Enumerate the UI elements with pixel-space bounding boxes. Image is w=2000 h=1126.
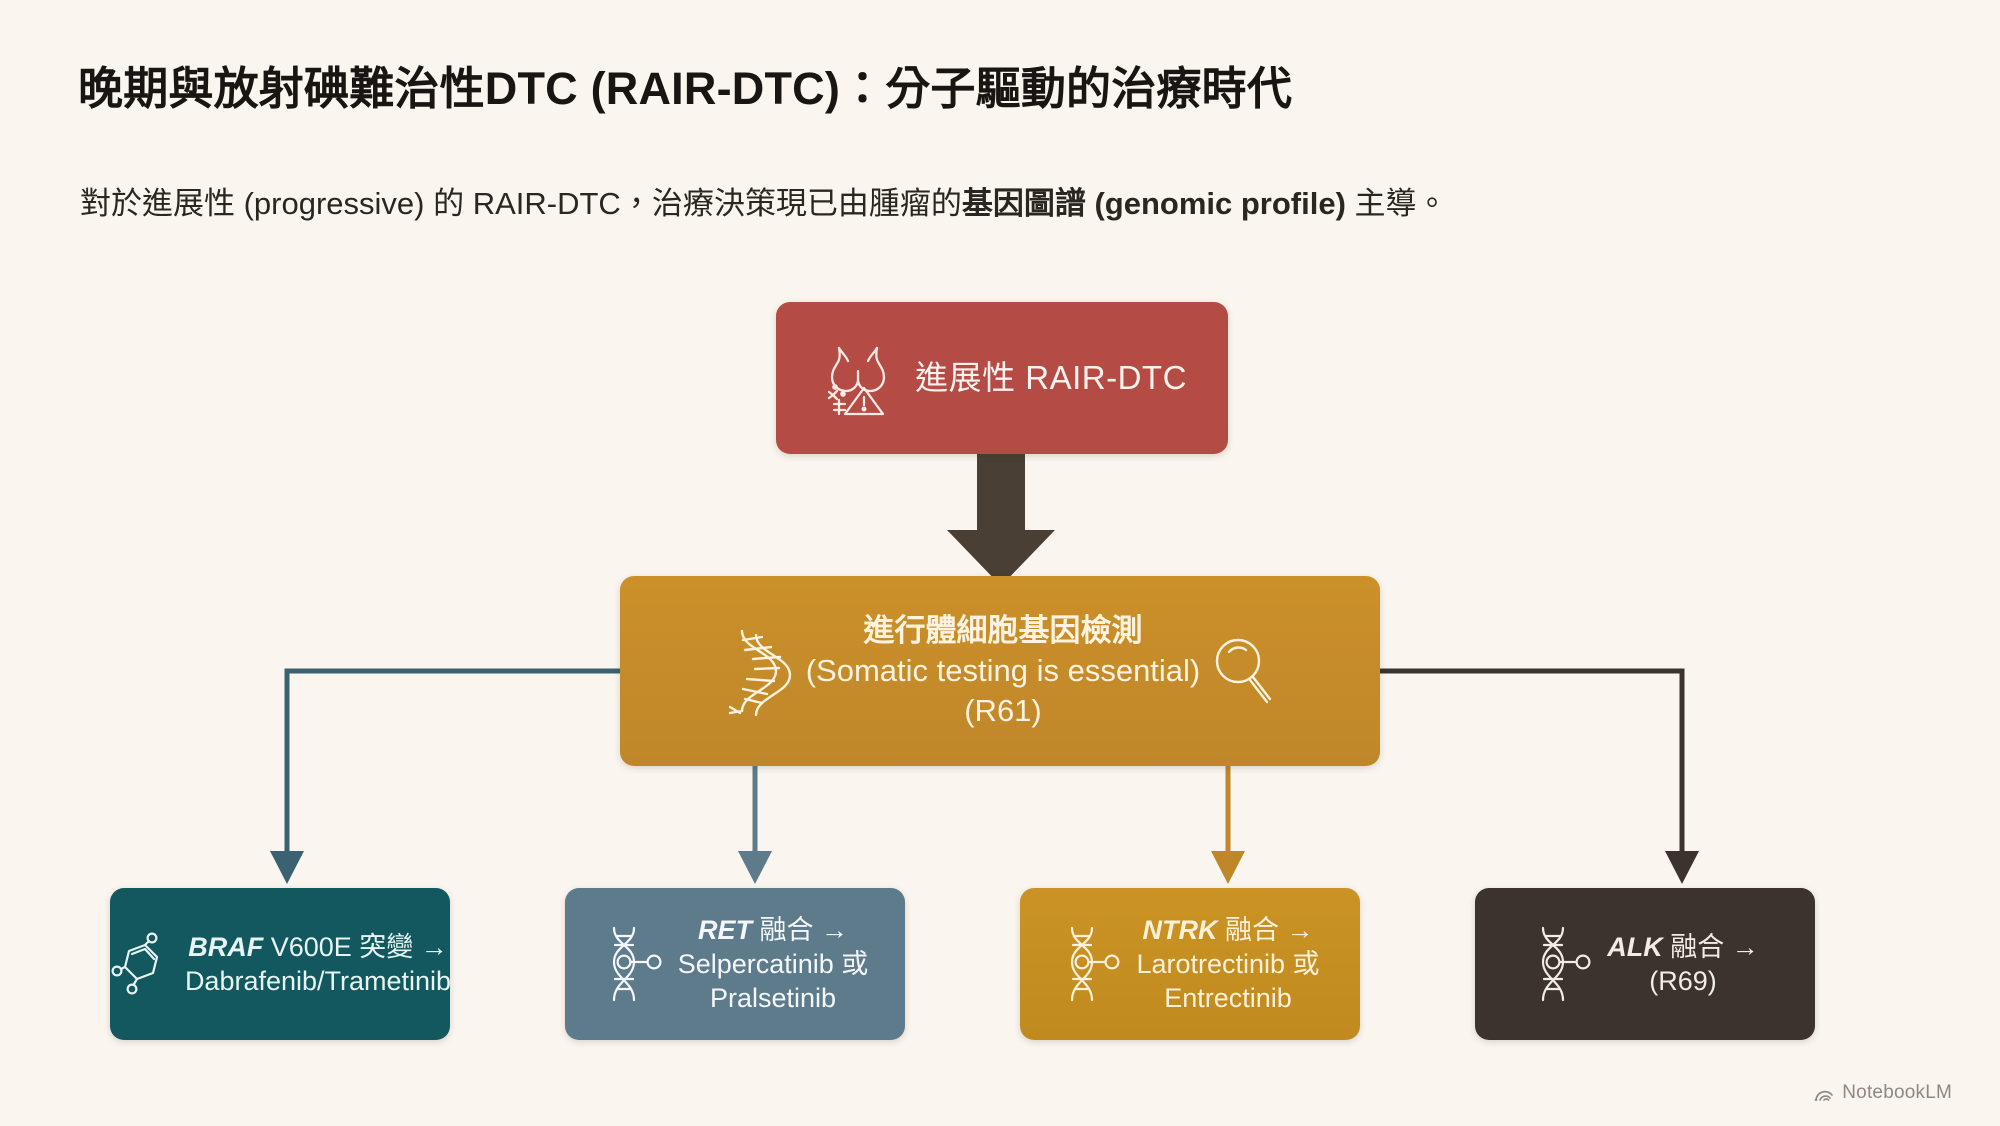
subtitle-text-part1: 對於進展性 (progressive) 的 RAIR-DTC，治療決策現已由腫瘤… xyxy=(80,186,962,221)
dna-fusion-icon xyxy=(602,924,664,1004)
decision-line-2: (Somatic testing is essential) xyxy=(806,651,1201,691)
alk-line-1-rest: 融合 → xyxy=(1663,932,1759,962)
ntrk-gene-name: NTRK xyxy=(1142,915,1217,945)
thyroid-warning-icon xyxy=(817,338,893,418)
flow-node-ntrk-fusion[interactable]: NTRK 融合 → Larotrectinib 或 Entrectinib xyxy=(1020,888,1360,1040)
flow-node-somatic-testing[interactable]: 進行體細胞基因檢測 (Somatic testing is essential)… xyxy=(620,576,1380,766)
ret-line-2: Selpercatinib 或 xyxy=(678,947,869,981)
alk-line-2: (R69) xyxy=(1607,964,1759,998)
page-subtitle: 對於進展性 (progressive) 的 RAIR-DTC，治療決策現已由腫瘤… xyxy=(80,178,1448,223)
ret-line-1-rest: 融合 → xyxy=(752,915,848,945)
page-title: 晚期與放射碘難治性DTC (RAIR-DTC)：分子驅動的治療時代 xyxy=(78,52,1292,117)
flow-node-decision-label: 進行體細胞基因檢測 (Somatic testing is essential)… xyxy=(802,611,1205,730)
flow-node-alk-fusion[interactable]: ALK 融合 → (R69) xyxy=(1475,888,1815,1040)
flow-node-braf-v600e[interactable]: BRAF V600E 突變 → Dabrafenib/Trametinib xyxy=(110,888,450,1040)
alk-gene-name: ALK xyxy=(1607,932,1663,962)
flow-node-alk-label: ALK 融合 → (R69) xyxy=(1607,930,1759,998)
flow-node-braf-label: BRAF V600E 突變 → Dabrafenib/Trametinib xyxy=(185,930,451,998)
braf-line-2: Dabrafenib/Trametinib xyxy=(185,964,451,998)
molecule-icon xyxy=(109,931,171,997)
notebooklm-watermark: NotebookLM xyxy=(1813,1082,1952,1104)
ret-line-3: Pralsetinib xyxy=(678,981,869,1015)
subtitle-emphasis: 基因圖譜 (genomic profile) xyxy=(962,186,1346,221)
connector-decision-to-alk xyxy=(1380,671,1699,884)
flow-node-ret-label: RET 融合 → Selpercatinib 或 Pralsetinib xyxy=(678,913,869,1015)
connector-root-to-decision xyxy=(947,452,1055,586)
flow-node-root-label: 進展性 RAIR-DTC xyxy=(915,356,1187,400)
decision-line-3: (R61) xyxy=(806,691,1201,731)
ntrk-line-3: Entrectinib xyxy=(1136,981,1319,1015)
dna-fusion-icon xyxy=(1060,924,1122,1004)
dna-helix-icon xyxy=(722,623,796,719)
watermark-label: NotebookLM xyxy=(1842,1082,1952,1104)
ntrk-line-2: Larotrectinib 或 xyxy=(1136,947,1319,981)
connector-decision-to-braf xyxy=(270,671,620,884)
magnifier-icon xyxy=(1210,633,1278,709)
connector-decision-to-ntrk xyxy=(1211,766,1245,884)
flow-node-ret-fusion[interactable]: RET 融合 → Selpercatinib 或 Pralsetinib xyxy=(565,888,905,1040)
ntrk-line-1-rest: 融合 → xyxy=(1217,915,1313,945)
ret-gene-name: RET xyxy=(698,915,752,945)
notebooklm-icon xyxy=(1813,1084,1835,1102)
slide-canvas: 晚期與放射碘難治性DTC (RAIR-DTC)：分子驅動的治療時代 對於進展性 … xyxy=(0,0,2000,1126)
flow-node-ntrk-label: NTRK 融合 → Larotrectinib 或 Entrectinib xyxy=(1136,913,1319,1015)
braf-gene-name: BRAF xyxy=(188,932,263,962)
connector-decision-to-ret xyxy=(738,766,772,884)
decision-line-1: 進行體細胞基因檢測 xyxy=(806,611,1201,651)
subtitle-text-part2: 主導。 xyxy=(1346,186,1448,221)
flow-node-progressive-rair-dtc[interactable]: 進展性 RAIR-DTC xyxy=(776,302,1228,454)
dna-fusion-icon xyxy=(1531,924,1593,1004)
braf-line-1-rest: V600E 突變 → xyxy=(263,932,448,962)
